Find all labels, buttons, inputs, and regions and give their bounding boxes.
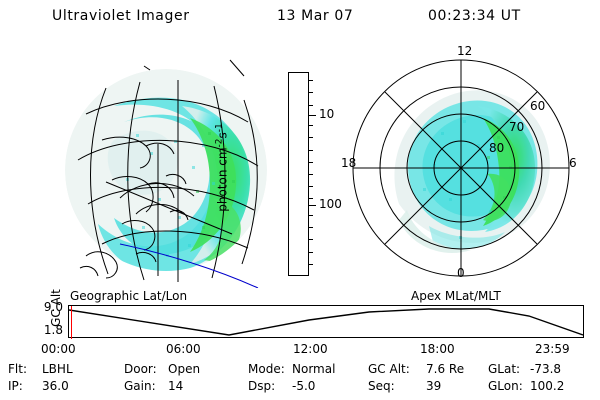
status-label-gain: Gain: — [124, 379, 156, 393]
status-panel: Flt:LBHLDoor:OpenMode:NormalGC Alt:7.6 R… — [0, 362, 600, 400]
status-label-glat: GLat: — [488, 362, 520, 376]
orbit-xtick-3: 18:00 — [420, 342, 455, 356]
status-value-gain: 14 — [168, 379, 183, 393]
status-label-gc-alt: GC Alt: — [368, 362, 410, 376]
geographic-aurora-image — [62, 48, 267, 288]
orbit-xtick-2: 12:00 — [293, 342, 328, 356]
mlat-label-80: 80 — [489, 141, 504, 155]
colorbar[interactable]: photon cm-2s-1 10010 — [288, 72, 309, 276]
status-label-flt: Flt: — [8, 362, 27, 376]
polar-caption: Apex MLat/MLT — [411, 289, 501, 303]
geographic-caption: Geographic Lat/Lon — [70, 289, 187, 303]
geographic-image-panel[interactable] — [62, 48, 267, 288]
status-label-seq: Seq: — [368, 379, 395, 393]
status-value-seq: 39 — [426, 379, 441, 393]
orbit-xtick-1: 06:00 — [166, 342, 201, 356]
polar-mlat-mlt-panel[interactable]: 12 6 0 18 60 70 80 — [337, 48, 584, 288]
polar-aurora-plot — [337, 48, 584, 288]
status-value-mode: Normal — [292, 362, 335, 376]
colorbar-axis-label: photon cm-2s-1 — [215, 68, 230, 268]
colorbar-gradient — [288, 72, 309, 276]
orbit-altitude-plot[interactable]: GC Alt 9.0 1.8 00:00 06:00 12:00 18:00 2… — [68, 305, 584, 338]
page-title: Ultraviolet Imager — [52, 8, 190, 24]
orbit-xtick-4: 23:59 — [535, 342, 570, 356]
status-label-mode: Mode: — [248, 362, 285, 376]
status-value-ip: 36.0 — [42, 379, 69, 393]
status-row-1: Flt:LBHLDoor:OpenMode:NormalGC Alt:7.6 R… — [0, 362, 600, 379]
mlt-label-18: 18 — [341, 156, 356, 170]
status-label-dsp: Dsp: — [248, 379, 275, 393]
date-label: 13 Mar 07 — [277, 8, 353, 24]
orbit-ytick-low: 1.8 — [17, 323, 63, 337]
status-value-glon: 100.2 — [530, 379, 564, 393]
status-row-2: IP:36.0Gain:14Dsp:-5.0Seq:39GLon:100.2 — [0, 379, 600, 396]
status-label-ip: IP: — [8, 379, 23, 393]
mlat-label-70: 70 — [509, 120, 524, 134]
status-value-flt: LBHL — [42, 362, 73, 376]
status-value-glat: -73.8 — [530, 362, 561, 376]
mlt-label-0: 0 — [457, 266, 465, 280]
status-value-gc-alt: 7.6 Re — [426, 362, 464, 376]
mlat-label-60: 60 — [530, 99, 545, 113]
orbit-xtick-0: 00:00 — [41, 342, 76, 356]
status-label-glon: GLon: — [488, 379, 523, 393]
status-value-dsp: -5.0 — [292, 379, 315, 393]
header-bar: Ultraviolet Imager 13 Mar 07 00:23:34 UT — [0, 4, 600, 30]
mlt-label-6: 6 — [569, 156, 577, 170]
mlt-label-12: 12 — [457, 44, 472, 58]
orbit-track-curve — [69, 306, 583, 337]
colorbar-ticks — [309, 72, 316, 276]
current-time-marker — [71, 306, 72, 339]
time-label: 00:23:34 UT — [428, 8, 521, 24]
colorbar-tick-label-10: 10 — [319, 107, 334, 121]
orbit-ytick-high: 9.0 — [17, 300, 63, 314]
status-value-door: Open — [168, 362, 200, 376]
status-label-door: Door: — [124, 362, 157, 376]
